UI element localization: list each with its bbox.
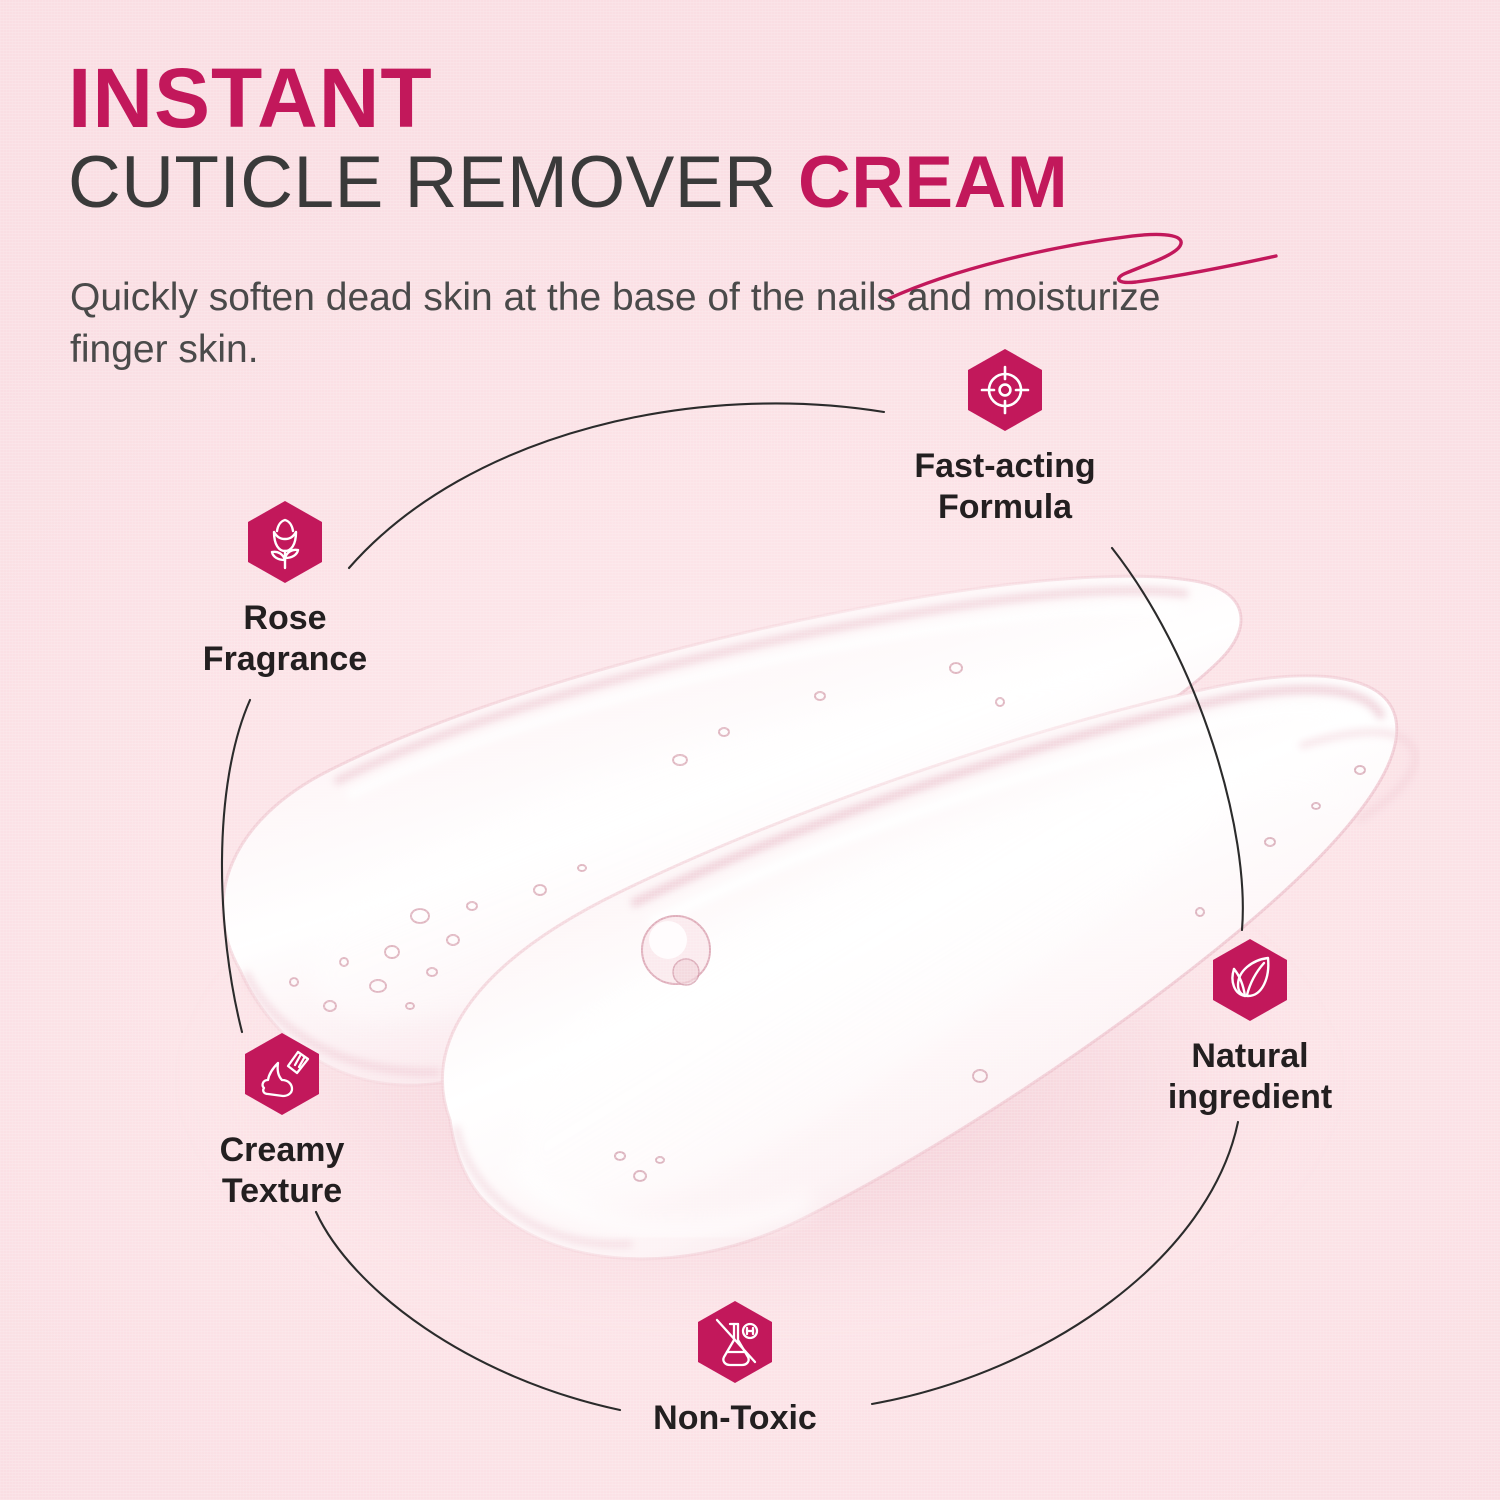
header-block: INSTANT CUTICLE REMOVER CREAM xyxy=(68,56,1398,226)
target-crosshair-icon xyxy=(967,348,1043,432)
feature-fast-acting[interactable]: Fast-acting Formula xyxy=(875,348,1135,529)
arc-creamy-to-rose xyxy=(222,700,250,1032)
rose-flower-icon xyxy=(247,500,323,584)
feature-rose-fragrance[interactable]: Rose Fragrance xyxy=(155,500,415,681)
feature-label-natural-ingredient: Natural ingredient xyxy=(1120,1036,1380,1119)
arc-rose-to-fast xyxy=(349,403,884,568)
feature-label-non-toxic: Non-Toxic xyxy=(605,1398,865,1439)
arc-nontoxic-to-creamy xyxy=(316,1212,620,1410)
cream-swirl-icon xyxy=(244,1032,320,1116)
no-chemical-flask-icon xyxy=(697,1300,773,1384)
feature-natural-ingredient[interactable]: Natural ingredient xyxy=(1120,938,1380,1119)
page-title-line2-plain: CUTICLE REMOVER xyxy=(68,142,798,223)
arc-natural-to-nontoxic xyxy=(872,1122,1238,1404)
feature-non-toxic[interactable]: Non-Toxic xyxy=(605,1300,865,1439)
leaf-icon xyxy=(1212,938,1288,1022)
feature-label-rose-fragrance: Rose Fragrance xyxy=(155,598,415,681)
infographic-canvas: INSTANT CUTICLE REMOVER CREAM Quickly so… xyxy=(0,0,1500,1500)
page-title-accent-word: CREAM xyxy=(798,142,1068,223)
feature-label-creamy-texture: Creamy Texture xyxy=(152,1130,412,1213)
page-title-line1: INSTANT xyxy=(68,56,1398,140)
arc-fast-to-natural xyxy=(1112,548,1243,930)
feature-label-fast-acting: Fast-acting Formula xyxy=(875,446,1135,529)
feature-creamy-texture[interactable]: Creamy Texture xyxy=(152,1032,412,1213)
